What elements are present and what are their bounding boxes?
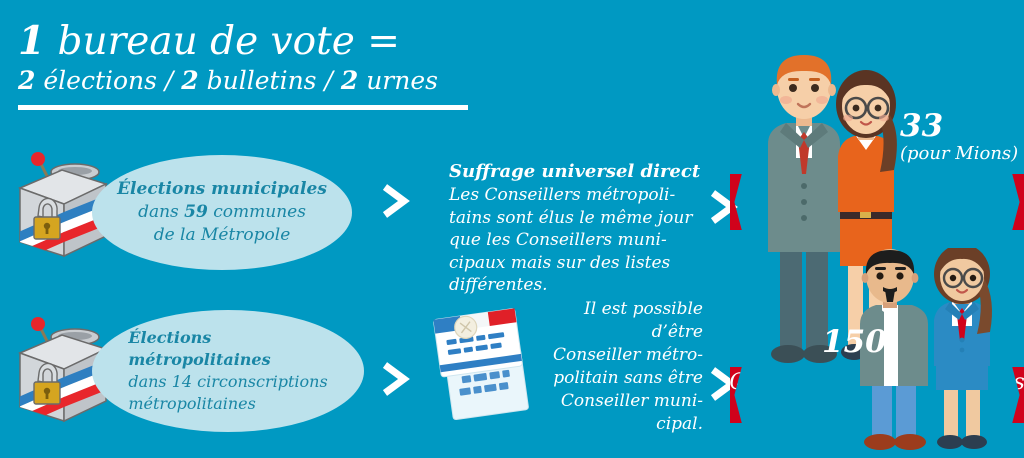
title-number-1: 1 <box>18 18 45 64</box>
ellipse-1-count: 59 <box>184 202 208 222</box>
title-line-1-rest: bureau de vote = <box>45 19 400 64</box>
title-line-2: 2 élections / 2 bulletins / 2 urnes <box>18 65 488 97</box>
title-sep-1: / <box>157 66 181 95</box>
chevron-right-icon <box>378 182 412 224</box>
title-line-1: 1 bureau de vote = <box>18 18 488 65</box>
infographic-canvas: 1 bureau de vote = 2 élections / 2 bulle… <box>0 0 1024 458</box>
ellipse-2-heading-l1: Élections <box>128 328 211 347</box>
title-text-urnes: urnes <box>358 66 438 95</box>
title-underline-rule <box>18 105 468 110</box>
chevron-right-icon <box>378 360 412 402</box>
conseiller-note-block: Il est possible d’êtreConseiller métro-p… <box>528 298 703 436</box>
title-number-2a: 2 <box>18 66 35 95</box>
ellipse-2-count: 14 <box>172 372 192 391</box>
suffrage-heading: Suffrage universel direct <box>449 160 709 184</box>
title-number-2c: 2 <box>341 66 358 95</box>
title-text-bulletins: bulletins <box>199 66 317 95</box>
suffrage-universel-block: Suffrage universel direct Les Conseiller… <box>449 160 709 297</box>
count-municipal-number: 33 <box>900 109 1018 143</box>
ellipse-1-line2-pre: dans <box>138 202 184 222</box>
ellipse-1-line2-post: communes <box>208 202 306 222</box>
ellipse-2-line4: métropolitaines <box>128 394 256 413</box>
ellipse-2-heading-l2: métropolitaines <box>128 350 270 369</box>
count-municipal-block: 33 (pour Mions) <box>900 109 1018 165</box>
count-municipal-note: (pour Mions) <box>900 143 1018 165</box>
title-text-elections: élections <box>35 66 157 95</box>
elections-municipales-bubble: Élections municipales dans 59 communes d… <box>92 155 352 270</box>
ballot-papers-icon <box>430 305 540 427</box>
elections-municipales-text: Élections municipales dans 59 communes d… <box>105 178 339 247</box>
title-number-2b: 2 <box>181 66 198 95</box>
title-block: 1 bureau de vote = 2 élections / 2 bulle… <box>18 18 488 110</box>
elections-metropolitaines-bubble: Élections métropolitaines dans 14 circon… <box>92 310 364 432</box>
ellipse-1-line3: de la Métropole <box>154 225 291 245</box>
title-sep-2: / <box>317 66 341 95</box>
ellipse-2-line3-post: circonscriptions <box>192 372 328 391</box>
ellipse-2-line3-pre: dans <box>128 372 171 391</box>
count-metropolitain-block: 150 <box>822 325 887 359</box>
ellipse-1-heading: Élections municipales <box>117 179 327 199</box>
suffrage-body: Les Conseillers métropoli-tains sont élu… <box>449 184 709 297</box>
count-metropolitain-number: 150 <box>822 325 887 359</box>
elections-metropolitaines-text: Élections métropolitaines dans 14 circon… <box>116 327 339 415</box>
